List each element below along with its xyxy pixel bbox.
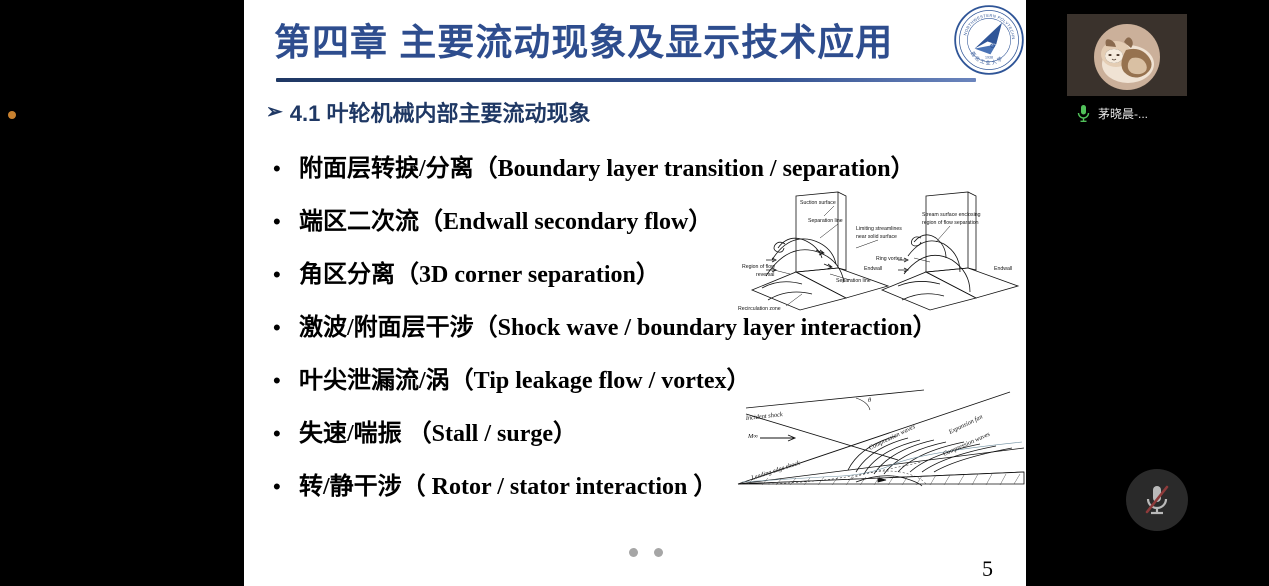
shock-boundary-layer-diagram: Incident shock θ M∞ Leading edge shock C… [728,388,1026,500]
slide-nav-dot[interactable] [629,548,638,557]
figure-label: Endwall [864,266,882,272]
figure-label: Limiting streamlines [856,226,902,232]
list-item-label: 附面层转捩/分离（Boundary layer transition / sep… [299,148,915,183]
figure-label: Recirculation zone [738,306,781,312]
figure-label: Suction surface [800,200,836,206]
activity-dot [8,111,16,119]
svg-text:NORTHWESTERN POLYTECHNICAL UNI: NORTHWESTERN POLYTECHNICAL UNIV [953,4,1016,40]
bullet-dot-icon: • [270,158,299,180]
figure-label: Ring vortex [876,256,903,262]
figure-label: near solid surface [856,234,897,240]
figure-label: θ [868,397,871,404]
list-item-label: 转/静干涉（ Rotor / stator interaction ） [299,466,717,501]
bullet-dot-icon: • [270,211,299,233]
page-title: 第四章 主要流动现象及显示技术应用 [274,12,893,66]
bullet-dot-icon: • [270,370,299,392]
participant-video-tile[interactable]: 茅晓晨-... [1067,14,1187,130]
presentation-slide[interactable]: 第四章 主要流动现象及显示技术应用 NORTHWESTERN POLYTECHN… [244,0,1026,586]
list-item: • 激波/附面层干涉（Shock wave / boundary layer i… [270,307,1010,360]
section-heading: ➢ 4.1 叶轮机械内部主要流动现象 [266,96,590,128]
participant-name: 茅晓晨-... [1098,105,1148,122]
figure-label: Incident shock [744,411,783,422]
list-item-label: 角区分离（3D corner separation） [299,254,660,289]
avatar [1094,24,1160,90]
microphone-icon[interactable] [1076,104,1091,123]
mute-button[interactable] [1126,469,1188,531]
microphone-muted-icon [1142,483,1172,517]
figure-label: region of flow separation [922,220,979,226]
figure-label: M∞ [747,433,758,440]
arrow-bullet-icon: ➢ [266,102,283,122]
figure-label: Expansion fan [947,413,984,436]
figure-label: Region of flow [742,264,775,270]
corner-separation-diagram: Suction surface Separation line Limiting… [738,190,1026,312]
bullet-dot-icon: • [270,317,299,339]
figure-label: Separation line [808,218,843,224]
bullet-dot-icon: • [270,423,299,445]
slide-nav-dot[interactable] [654,548,663,557]
participant-name-bar: 茅晓晨-... [1067,96,1187,130]
slide-nav-dots[interactable] [629,548,663,557]
svg-text:1938: 1938 [985,56,993,60]
university-seal-logo: NORTHWESTERN POLYTECHNICAL UNIV 西北工业大学 1… [953,4,1025,76]
bullet-dot-icon: • [270,264,299,286]
list-item-label: 失速/喘振 （Stall / surge） [299,413,577,448]
list-item-label: 叶尖泄漏流/涡（Tip leakage flow / vortex） [299,360,751,395]
bullet-dot-icon: • [270,476,299,498]
list-item-label: 端区二次流（Endwall secondary flow） [299,201,712,236]
figure-label: Separation line [836,278,871,284]
figure-label: Endwall [994,266,1012,272]
list-item-label: 激波/附面层干涉（Shock wave / boundary layer int… [299,307,937,342]
section-heading-text: 4.1 叶轮机械内部主要流动现象 [290,96,591,128]
page-number: 5 [982,556,993,582]
figure-label: Stream surface enclosing [922,212,981,218]
figure-label: reversal [756,272,774,278]
screen-share-view: 第四章 主要流动现象及显示技术应用 NORTHWESTERN POLYTECHN… [0,0,1269,586]
title-divider [276,78,976,82]
